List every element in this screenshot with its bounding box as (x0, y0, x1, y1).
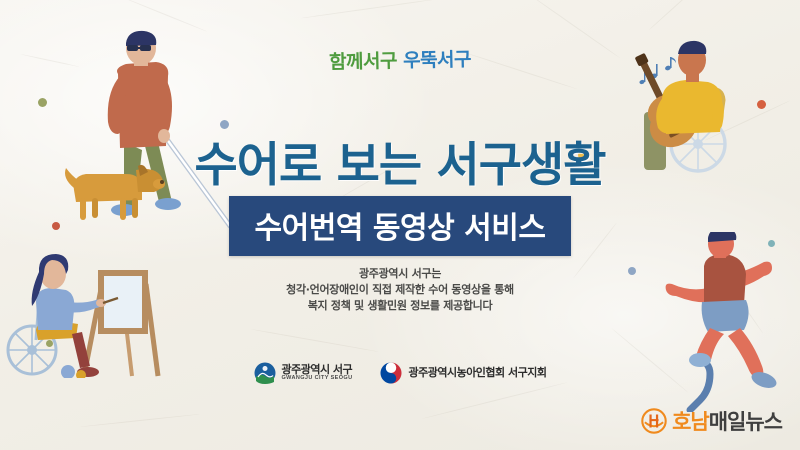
honam-news-mark-icon (641, 408, 667, 434)
body-copy-line-1: 광주광역시 서구는 (0, 266, 800, 282)
logo-gwangju-seogu: 광주광역시 서구 GWANGJU CITY SEOGU (254, 362, 353, 384)
slogan-part1: 함께서구 (329, 50, 397, 73)
runner-with-prosthetic-leg-illustration (648, 232, 798, 412)
taegeuk-emblem-icon (380, 362, 402, 384)
body-copy-line-3: 복지 정책 및 생활민원 정보를 제공합니다 (0, 298, 800, 314)
poster-canvas: 함께서구 우뚝서구 수어로 보는 서구생활 수어번역 동영상 서비스 광주광역시… (0, 0, 800, 450)
dot-olive (38, 98, 47, 107)
logo-gwangju-seogu-name-kr: 광주광역시 서구 (282, 364, 353, 376)
watermark-honam-maeil-news: 호남매일뉴스 (641, 406, 782, 436)
logo-deaf-association-name-kr: 광주광역시농아인협회 서구지회 (408, 367, 546, 379)
subtitle-banner: 수어번역 동영상 서비스 (229, 196, 572, 256)
logo-deaf-association: 광주광역시농아인협회 서구지회 (380, 362, 546, 384)
page-title: 수어로 보는 서구생활 (0, 126, 800, 195)
gwangju-seogu-emblem-icon (254, 362, 276, 384)
watermark-text-part1: 호남 (672, 410, 709, 434)
subtitle-banner-wrapper: 수어번역 동영상 서비스 (0, 196, 800, 256)
body-copy: 광주광역시 서구는 청각·언어장애인이 직접 제작한 수어 동영상을 통해 복지… (0, 266, 800, 314)
logo-gwangju-seogu-name-en: GWANGJU CITY SEOGU (282, 376, 353, 382)
body-copy-line-2: 청각·언어장애인이 직접 제작한 수어 동영상을 통해 (0, 282, 800, 298)
footer-logos: 광주광역시 서구 GWANGJU CITY SEOGU 광주광역시농아인협회 서… (0, 362, 800, 384)
watermark-text-part2: 매일뉴스 (709, 410, 782, 434)
slogan-part2: 우뚝서구 (403, 49, 471, 72)
